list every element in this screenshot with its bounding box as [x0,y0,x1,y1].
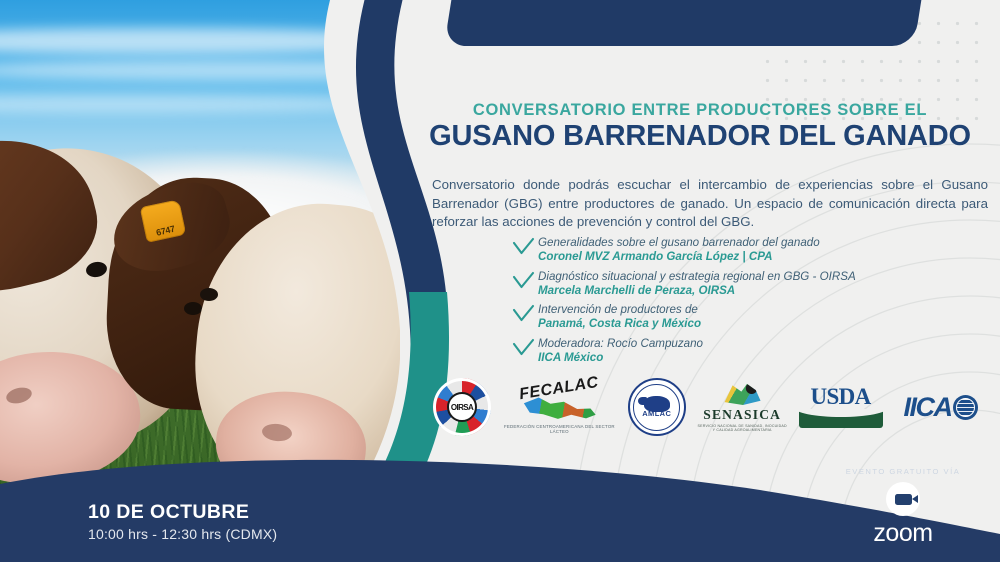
camera-glyph [895,494,912,505]
fecalac-wordmark: FECALAC [501,371,618,407]
logo-senasica: SENASICA SERVICIO NACIONAL DE SANIDAD, I… [696,377,788,437]
agenda-topic: Moderadora: Rocío Campuzano [538,337,980,351]
event-kicker: CONVERSATORIO ENTRE PRODUCTORES SOBRE EL [415,101,985,120]
check-icon [510,271,538,293]
check-icon [510,304,538,326]
agenda-topic: Intervención de productores de [538,303,980,317]
agenda-speaker: Coronel MVZ Armando García López | CPA [538,250,980,265]
amlac-seal-icon: AMLAC [628,378,686,436]
central-america-map-icon [522,396,596,422]
page-title: GUSANO BARRENADOR DEL GANADO [415,120,985,153]
oirsa-wordmark: OIRSA [447,392,477,422]
sponsor-logo-row: OIRSA FECALAC FEDERACIÓN CENTROAMERICANA… [433,375,989,439]
agenda-item: Diagnóstico situacional y estrategia reg… [510,270,980,299]
logo-oirsa: OIRSA [433,377,491,437]
event-time: 10:00 hrs - 12:30 hrs (CDMX) [88,526,277,542]
senasica-emblem-icon [722,382,762,406]
agenda-speaker: Panamá, Costa Rica y México [538,317,980,332]
check-icon [510,237,538,259]
agenda-speaker: Marcela Marchelli de Peraza, OIRSA [538,284,980,299]
check-icon [510,338,538,360]
zoom-wordmark: zoom [828,519,978,548]
agenda-topic: Diagnóstico situacional y estrategia reg… [538,270,980,284]
poster-canvas: 6747 CONVERSATORIO ENTRE P [0,0,1000,562]
usda-wordmark: USDA [799,386,883,408]
agenda-speaker: IICA México [538,351,980,366]
senasica-wordmark: SENASICA [696,407,788,423]
senasica-tagline: SERVICIO NACIONAL DE SANIDAD, INOCUIDAD … [696,424,788,432]
logo-usda: USDA [799,377,883,437]
logo-fecalac: FECALAC FEDERACIÓN CENTROAMERICANA DEL S… [501,377,617,437]
platform-kicker: EVENTO GRATUITO VÍA [828,467,978,476]
fecalac-tagline: FEDERACIÓN CENTROAMERICANA DEL SECTOR LÁ… [501,424,617,434]
oirsa-flag-ring-icon: OIRSA [433,378,491,436]
iica-wordmark: IICA [903,392,951,423]
event-date: 10 DE OCTUBRE [88,501,277,524]
video-camera-icon [886,482,920,516]
logo-amlac: AMLAC [628,377,686,437]
amlac-wordmark: AMLAC [630,409,684,418]
logo-iica: IICA [893,377,989,437]
globe-icon [953,395,978,420]
agenda-item: Moderadora: Rocío Campuzano IICA México [510,337,980,366]
event-description: Conversatorio donde podrás escuchar el i… [432,176,988,232]
platform-badge: EVENTO GRATUITO VÍA zoom [828,467,978,548]
agenda-list: Generalidades sobre el gusano barrenador… [510,236,980,370]
event-datetime: 10 DE OCTUBRE 10:00 hrs - 12:30 hrs (CDM… [88,501,277,542]
agenda-item: Intervención de productores de Panamá, C… [510,303,980,332]
agenda-topic: Generalidades sobre el gusano barrenador… [538,236,980,250]
usda-field-graphic [799,409,883,428]
agenda-item: Generalidades sobre el gusano barrenador… [510,236,980,265]
